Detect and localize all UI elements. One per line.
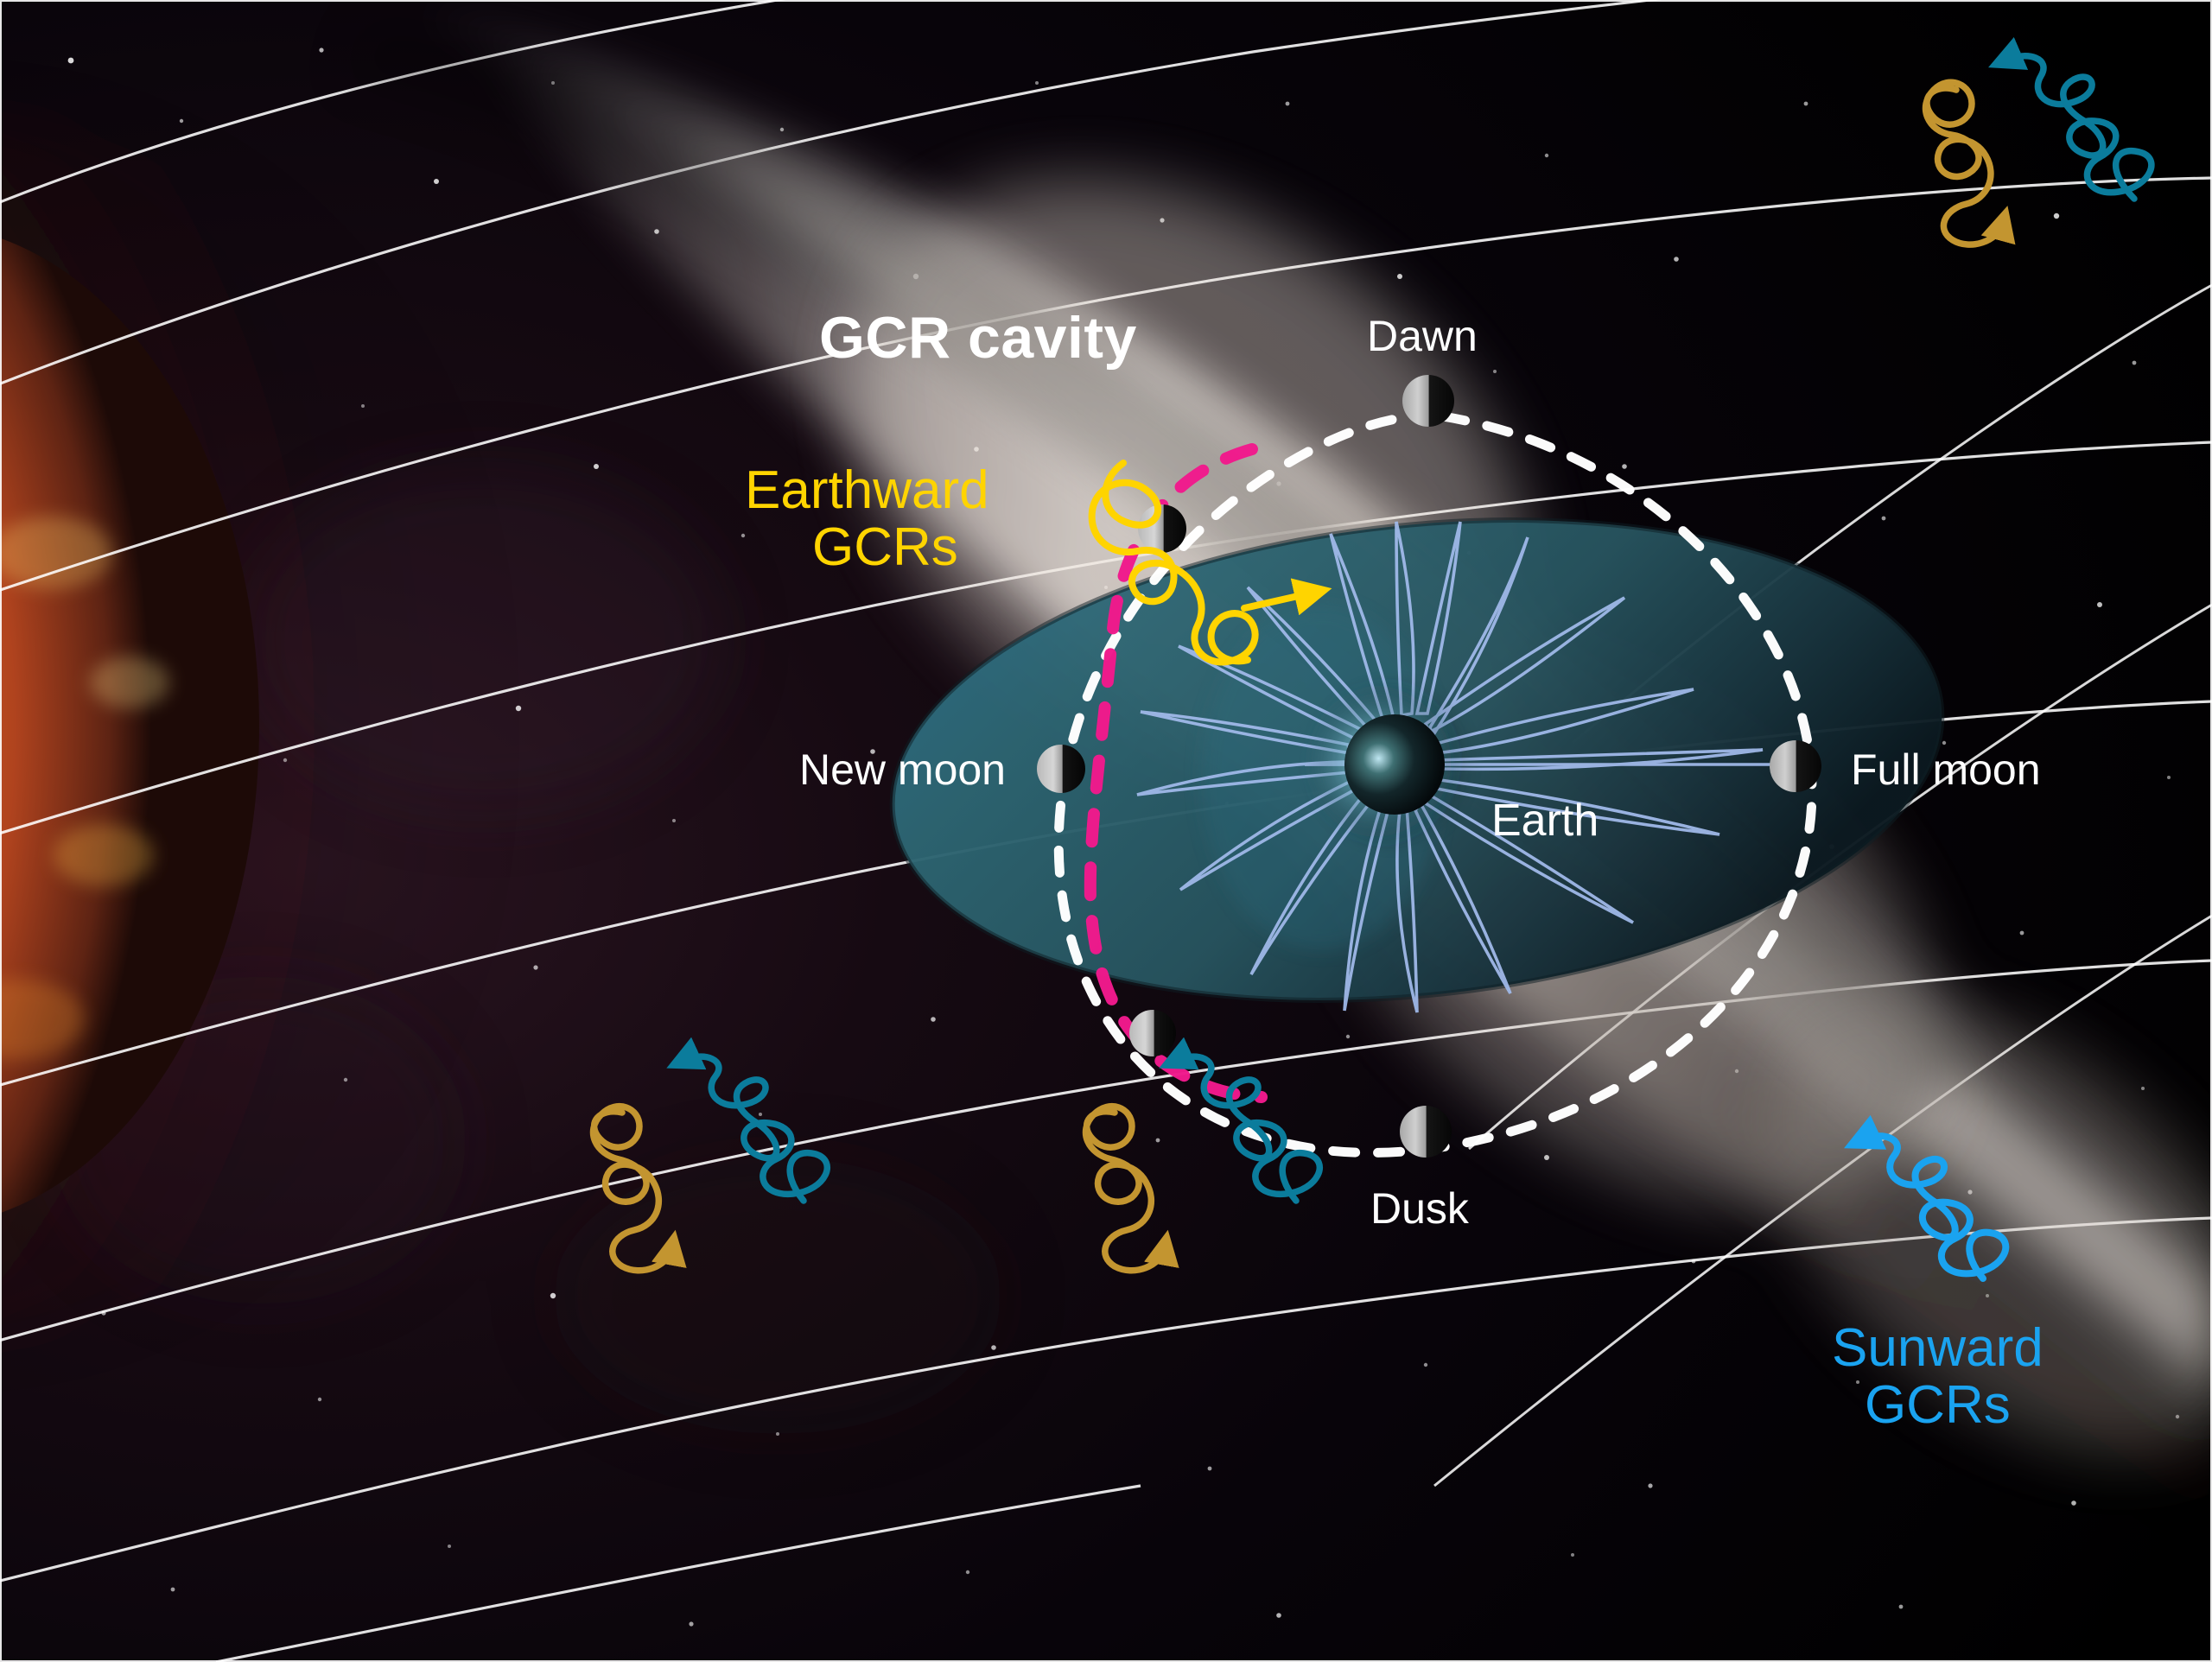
label-sunward-line1: Sunward: [1832, 1318, 2044, 1378]
label-dawn: Dawn: [1367, 311, 1478, 361]
label-earthward-line1: Earthward: [745, 460, 989, 520]
moon-in-cavity-lower: [1129, 1010, 1176, 1056]
moon-in-cavity-upper: [1138, 504, 1186, 553]
label-sunward-line2: GCRs: [1832, 1377, 2044, 1434]
label-earth: Earth: [1491, 795, 1599, 847]
label-sunward-gcrs: Sunward GCRs: [1832, 1320, 2044, 1433]
moon-dawn: [1402, 375, 1454, 427]
earth: [1315, 685, 1474, 844]
label-gcr-cavity: GCR cavity: [819, 304, 1137, 371]
moon-dusk: [1400, 1106, 1452, 1158]
figure-canvas: GCR cavity Earthward GCRs Sunward GCRs E…: [0, 0, 2212, 1662]
moon-full: [1770, 740, 1821, 792]
label-full-moon: Full moon: [1851, 745, 2041, 795]
label-new-moon: New moon: [799, 745, 1006, 795]
label-dusk: Dusk: [1370, 1183, 1469, 1234]
label-earthward-gcrs: Earthward GCRs: [745, 462, 989, 575]
moon-new: [1037, 745, 1085, 793]
label-earthward-line2: GCRs: [812, 519, 989, 576]
